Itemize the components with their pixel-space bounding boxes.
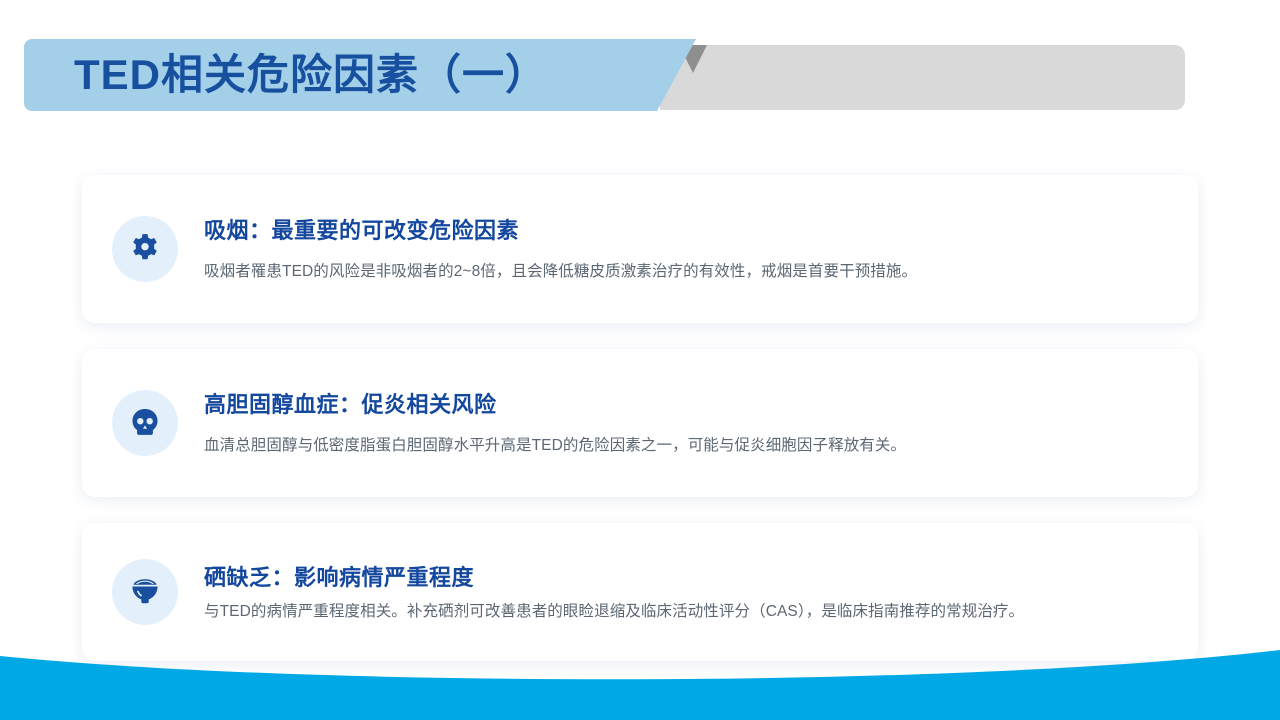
- page-title: TED相关危险因素（一）: [74, 38, 674, 112]
- card-body: 高胆固醇血症：促炎相关风险 血清总胆固醇与低密度脂蛋白胆固醇水平升高是TED的危…: [204, 387, 1170, 458]
- banner-gray-bar: [660, 45, 1185, 110]
- risk-factor-card-hypercholesterolemia[interactable]: 高胆固醇血症：促炎相关风险 血清总胆固醇与低密度脂蛋白胆固醇水平升高是TED的危…: [82, 349, 1198, 497]
- card-body: 吸烟：最重要的可改变危险因素 吸烟者罹患TED的风险是非吸烟者的2~8倍，且会降…: [204, 213, 1170, 284]
- card-title: 硒缺乏：影响病情严重程度: [204, 560, 1170, 592]
- card-title: 高胆固醇血症：促炎相关风险: [204, 387, 1170, 419]
- card-text: 血清总胆固醇与低密度脂蛋白胆固醇水平升高是TED的危险因素之一，可能与促炎细胞因…: [204, 433, 1170, 458]
- card-text: 吸烟者罹患TED的风险是非吸烟者的2~8倍，且会降低糖皮质激素治疗的有效性，戒烟…: [204, 259, 1170, 284]
- risk-factor-card-smoking[interactable]: 吸烟：最重要的可改变危险因素 吸烟者罹患TED的风险是非吸烟者的2~8倍，且会降…: [82, 175, 1198, 323]
- card-text: 与TED的病情严重程度相关。补充硒剂可改善患者的眼睑退缩及临床活动性评分（CAS…: [204, 599, 1170, 624]
- card-title: 吸烟：最重要的可改变危险因素: [204, 213, 1170, 245]
- bottom-wave-decoration: [0, 648, 1280, 720]
- skull-icon: [112, 390, 178, 456]
- risk-factor-card-list: 吸烟：最重要的可改变危险因素 吸烟者罹患TED的风险是非吸烟者的2~8倍，且会降…: [82, 175, 1198, 661]
- title-banner: TED相关危险因素（一）: [0, 0, 1280, 150]
- gear-icon: [112, 216, 178, 282]
- bowl-icon: [112, 559, 178, 625]
- risk-factor-card-selenium[interactable]: 硒缺乏：影响病情严重程度 与TED的病情严重程度相关。补充硒剂可改善患者的眼睑退…: [82, 523, 1198, 661]
- card-body: 硒缺乏：影响病情严重程度 与TED的病情严重程度相关。补充硒剂可改善患者的眼睑退…: [204, 560, 1170, 624]
